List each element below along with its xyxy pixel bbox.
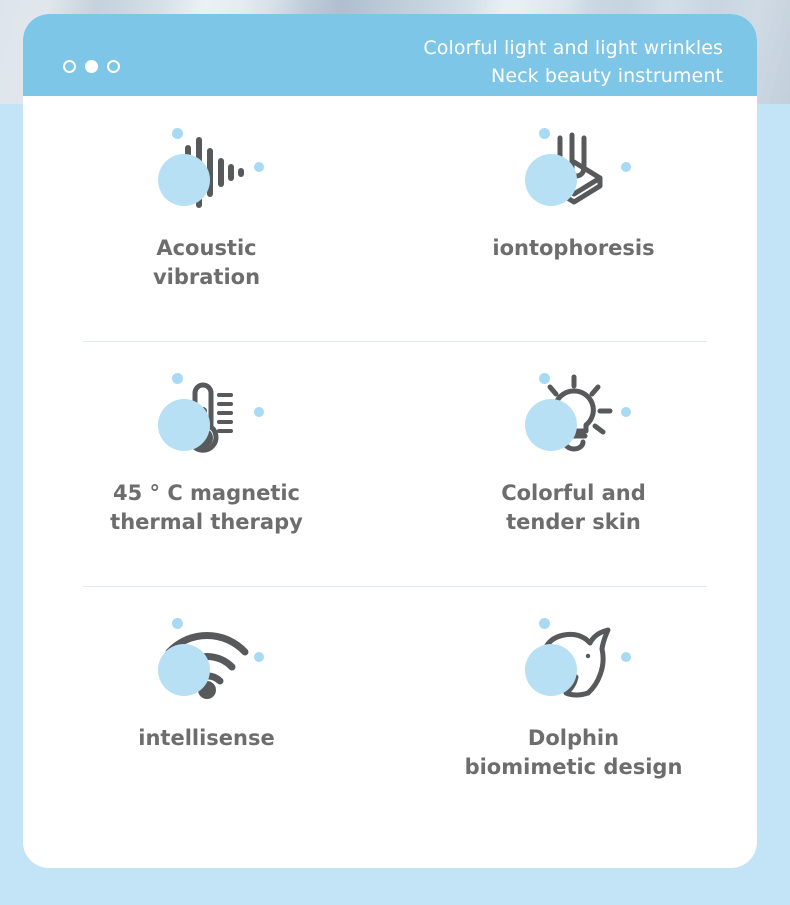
window-dot-1-icon[interactable] bbox=[63, 60, 76, 73]
feature-item-intellisense[interactable]: intellisense bbox=[23, 586, 390, 831]
header-title-line2: Neck beauty instrument bbox=[423, 62, 723, 90]
feature-label: intellisense bbox=[138, 724, 274, 753]
feature-row: intellisense bbox=[23, 586, 757, 831]
icon-blob bbox=[158, 644, 210, 696]
feature-item-colorful-tender-skin[interactable]: Colorful and tender skin bbox=[390, 341, 757, 586]
icon-accent-dot bbox=[254, 652, 264, 662]
feature-label-line1: intellisense bbox=[138, 726, 274, 750]
icon-accent-dot bbox=[621, 407, 631, 417]
icon-accent-dot bbox=[172, 128, 183, 139]
feature-label: 45 ° C magnetic thermal therapy bbox=[110, 479, 303, 537]
thermometer-icon bbox=[152, 373, 262, 461]
feature-item-dolphin-design[interactable]: Dolphin biomimetic design bbox=[390, 586, 757, 831]
feature-label-line1: 45 ° C magnetic bbox=[113, 481, 300, 505]
feature-item-acoustic-vibration[interactable]: Acoustic vibration bbox=[23, 96, 390, 341]
dolphin-icon bbox=[519, 618, 629, 706]
window-dot-3-icon[interactable] bbox=[107, 60, 120, 73]
feature-label-line1: Acoustic bbox=[156, 236, 256, 260]
icon-accent-dot bbox=[621, 162, 631, 172]
icon-accent-dot bbox=[621, 652, 631, 662]
feature-label-line2: biomimetic design bbox=[465, 755, 683, 779]
feature-label-line2: vibration bbox=[153, 265, 260, 289]
feature-label-line2: thermal therapy bbox=[110, 510, 303, 534]
icon-accent-dot bbox=[539, 128, 550, 139]
feature-label-line1: Colorful and bbox=[501, 481, 646, 505]
icon-blob bbox=[158, 154, 210, 206]
icon-blob bbox=[525, 154, 577, 206]
icon-accent-dot bbox=[254, 162, 264, 172]
iontophoresis-icon bbox=[519, 128, 629, 216]
feature-grid: Acoustic vibration bbox=[23, 96, 757, 831]
feature-label-line1: iontophoresis bbox=[492, 236, 654, 260]
icon-blob bbox=[158, 399, 210, 451]
lightbulb-icon bbox=[519, 373, 629, 461]
feature-row: 45 ° C magnetic thermal therapy bbox=[23, 341, 757, 586]
card-header: Colorful light and light wrinkles Neck b… bbox=[23, 14, 757, 96]
feature-label: Dolphin biomimetic design bbox=[465, 724, 683, 782]
header-title: Colorful light and light wrinkles Neck b… bbox=[423, 34, 723, 90]
icon-blob bbox=[525, 399, 577, 451]
feature-label: Acoustic vibration bbox=[153, 234, 260, 292]
icon-accent-dot bbox=[539, 373, 550, 384]
icon-blob bbox=[525, 644, 577, 696]
icon-accent-dot bbox=[172, 373, 183, 384]
acoustic-wave-icon bbox=[152, 128, 262, 216]
wifi-icon bbox=[152, 618, 262, 706]
window-dot-2-icon[interactable] bbox=[85, 60, 98, 73]
product-feature-card: Colorful light and light wrinkles Neck b… bbox=[23, 14, 757, 868]
feature-item-iontophoresis[interactable]: iontophoresis bbox=[390, 96, 757, 341]
icon-accent-dot bbox=[172, 618, 183, 629]
feature-label: iontophoresis bbox=[492, 234, 654, 263]
icon-accent-dot bbox=[539, 618, 550, 629]
feature-label-line2: tender skin bbox=[506, 510, 641, 534]
header-title-line1: Colorful light and light wrinkles bbox=[423, 34, 723, 62]
feature-label: Colorful and tender skin bbox=[501, 479, 646, 537]
window-dots bbox=[63, 60, 120, 73]
feature-label-line1: Dolphin bbox=[528, 726, 619, 750]
icon-accent-dot bbox=[254, 407, 264, 417]
feature-item-thermal-therapy[interactable]: 45 ° C magnetic thermal therapy bbox=[23, 341, 390, 586]
feature-row: Acoustic vibration bbox=[23, 96, 757, 341]
